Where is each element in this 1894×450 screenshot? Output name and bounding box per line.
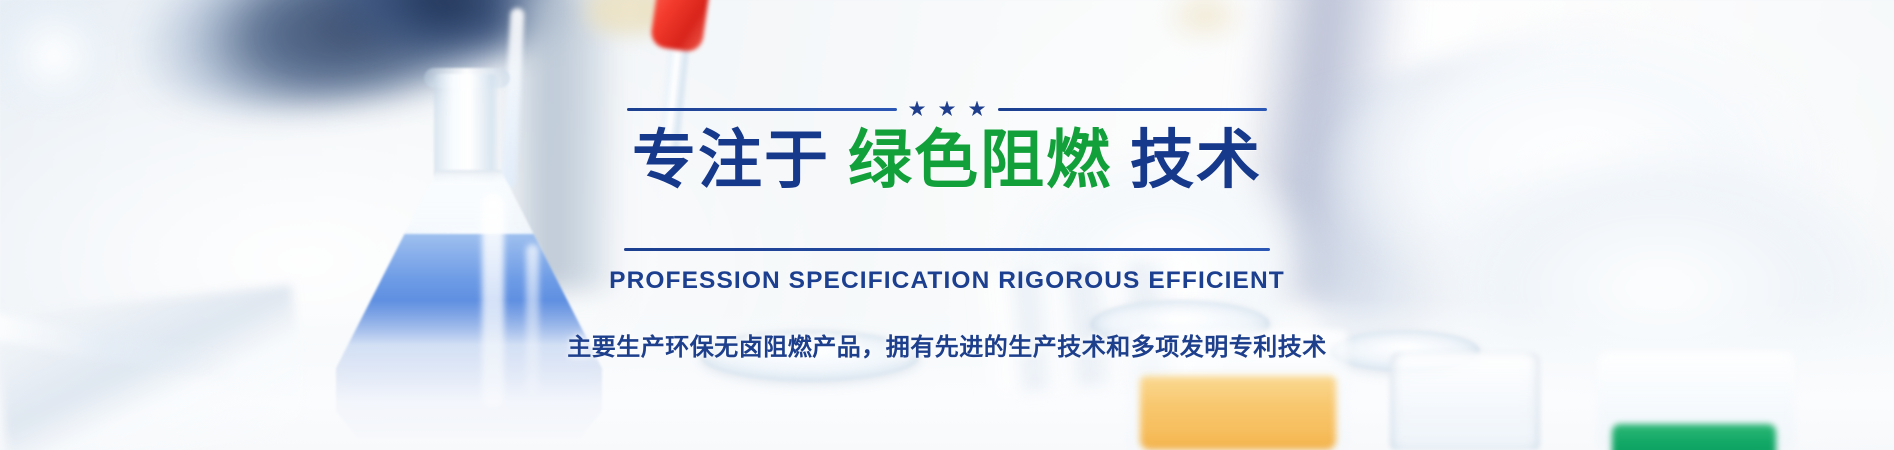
star-icon [939, 101, 956, 118]
decorative-bottom-rule [624, 248, 1270, 251]
headline-part-1: 专注于 [632, 124, 830, 198]
rule-segment-left [627, 108, 897, 111]
banner-headline: 专注于绿色阻燃技术 [632, 124, 1262, 200]
headline-highlight: 绿色阻燃 [848, 124, 1112, 198]
star-icon [969, 101, 986, 118]
banner-english-subtitle: PROFESSION SPECIFICATION RIGOROUS EFFICI… [609, 267, 1285, 295]
banner-tagline: 主要生产环保无卤阻燃产品，拥有先进的生产技术和多项发明专利技术 [567, 327, 1327, 362]
decorative-top-rule [627, 98, 1267, 120]
headline-part-3: 技术 [1130, 124, 1262, 198]
banner-content: 专注于绿色阻燃技术 PROFESSION SPECIFICATION RIGOR… [0, 0, 1894, 450]
rule-segment-right [998, 108, 1268, 111]
star-icon [909, 101, 926, 118]
star-group [909, 101, 986, 118]
hero-banner: 专注于绿色阻燃技术 PROFESSION SPECIFICATION RIGOR… [0, 0, 1894, 450]
